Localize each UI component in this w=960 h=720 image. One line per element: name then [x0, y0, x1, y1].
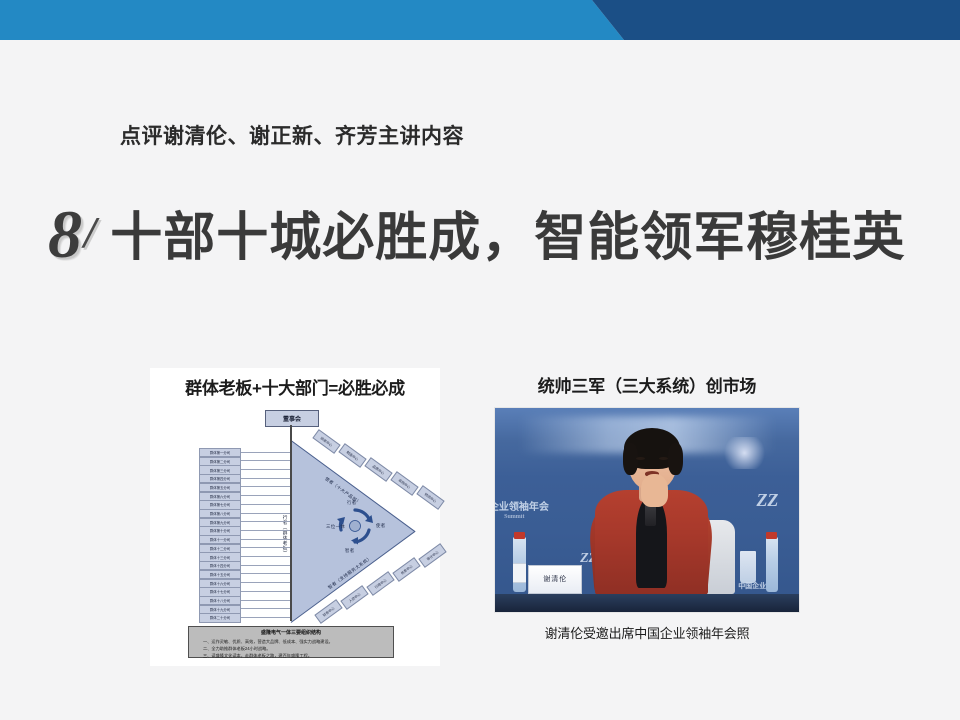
right-content-panel: 统帅三军（三大系统）创市场 ZZ ZZ 企业领袖年会 Summit 中国企业家 — [494, 372, 800, 642]
division-lead-line — [239, 591, 290, 592]
nameplate: 谢清伦 — [528, 565, 582, 594]
banner-right-shape — [592, 0, 960, 40]
slide-title-row: 8 / 十部十城必胜成，智能领军穆桂英 — [48, 196, 905, 264]
spine-line — [290, 425, 292, 621]
division-lead-line — [239, 452, 290, 453]
cycle-label-1: 使者 — [376, 523, 386, 529]
division-lead-line — [239, 495, 290, 496]
division-lead-line — [239, 573, 290, 574]
right-figure-caption: 统帅三军（三大系统）创市场 — [494, 372, 800, 397]
org-chart-figure: 董事会 行者（群体老板） 群体第一分司群体第二分司群体第三分司群体第四分司群体第… — [155, 404, 435, 660]
subject-hand — [641, 474, 668, 507]
table-edge — [495, 594, 799, 612]
figure-footer-line: 一、运作灵敏、优质、高效，营造大品牌、低成本、强实力战略建设。 — [193, 638, 389, 645]
division-lead-line — [239, 565, 290, 566]
figure-footer-lines: 一、运作灵敏、优质、高效，营造大品牌、低成本、强实力战略建设。二、全力助推群体老… — [193, 638, 389, 659]
division-lead-line — [239, 608, 290, 609]
division-lead-line — [239, 521, 290, 522]
slide-subtitle: 点评谢清伦、谢正新、齐芳主讲内容 — [120, 120, 464, 150]
water-bottle-left-label — [513, 563, 526, 583]
division-lead-line — [239, 486, 290, 487]
bottom-branch-box: 审计中心 — [418, 543, 446, 568]
water-bottle-right-cap — [766, 532, 777, 538]
page-title: 十部十城必胜成，智能领军穆桂英 — [110, 212, 905, 264]
division-lead-line — [239, 556, 290, 557]
figure-footer-box: 盛隆电气一体三要组织结构 一、运作灵敏、优质、高效，营造大品牌、低成本、强实力战… — [188, 626, 394, 658]
water-bottle-right — [766, 537, 779, 592]
figure-footer-title: 盛隆电气一体三要组织结构 — [193, 629, 389, 636]
top-branch-box: 物流中心 — [416, 485, 444, 510]
division-lead-line — [239, 547, 290, 548]
slide-number: 8 — [48, 200, 82, 268]
subject-hair-right — [668, 443, 683, 476]
division-lead-line — [239, 469, 290, 470]
slide-number-slash: / — [84, 207, 96, 258]
cycle-label-2: 智者 — [345, 548, 355, 554]
division-lead-line — [239, 460, 290, 461]
division-lead-line — [239, 600, 290, 601]
backdrop-logo-right: ZZ — [756, 490, 778, 511]
figure-footer-line: 三、读盛隆文化读本，走群体老板之路，建百年盛隆工程。 — [193, 652, 389, 659]
header-banner — [0, 0, 960, 40]
banner-left-shape — [0, 0, 624, 40]
division-lead-line — [239, 478, 290, 479]
left-content-panel: 群体老板+十大部门=必胜必成 董事会 行者（群体老板） 群体第一分司群体第二分司… — [150, 368, 440, 666]
figure-footer-line: 二、全力助推群体老板24小时战略。 — [193, 645, 389, 652]
photo-caption: 谢清伦受邀出席中国企业领袖年会照 — [494, 623, 800, 642]
cycle-label-3: 三位一体 — [326, 524, 345, 530]
division-lead-line — [239, 582, 290, 583]
board-of-directors-box: 董事会 — [265, 410, 319, 427]
water-bottle-left-cap — [514, 532, 525, 538]
backdrop-text-left: 企业领袖年会 — [494, 498, 549, 513]
division-lead-line — [239, 539, 290, 540]
division-lead-line — [239, 530, 290, 531]
drinking-glass — [740, 551, 757, 584]
division-lead-line — [239, 504, 290, 505]
division-lead-line — [239, 513, 290, 514]
cycle-label-0: 行者 — [347, 500, 357, 506]
photo-light-glow — [720, 437, 769, 470]
division-box: 群体二十分司 — [199, 613, 241, 622]
backdrop-text-sub: Summit — [504, 514, 524, 520]
division-lead-line — [239, 617, 290, 618]
speaker-photo: ZZ ZZ 企业领袖年会 Summit 中国企业家 谢清伦 — [494, 407, 800, 613]
left-figure-caption: 群体老板+十大部门=必胜必成 — [150, 374, 440, 399]
